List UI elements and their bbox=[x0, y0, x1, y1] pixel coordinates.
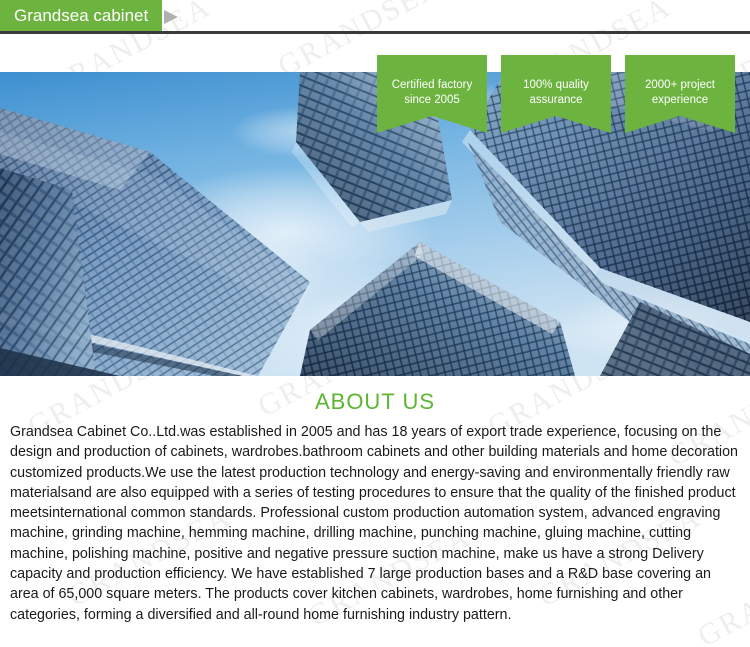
badge-line-1: 2000+ project bbox=[625, 78, 735, 93]
about-title: ABOUT US bbox=[0, 388, 750, 416]
arrow-right-icon bbox=[164, 10, 178, 24]
badge-line-2: experience bbox=[625, 93, 735, 108]
about-section: ABOUT US Grandsea Cabinet Co..Ltd.was es… bbox=[0, 380, 750, 625]
badge-certified-factory: Certified factory since 2005 bbox=[377, 55, 487, 133]
about-body-text: Grandsea Cabinet Co..Ltd.was established… bbox=[0, 422, 750, 625]
header-divider bbox=[0, 31, 750, 34]
page-header: Grandsea cabinet bbox=[0, 0, 750, 33]
hero-badge-group: Certified factory since 2005 100% qualit… bbox=[0, 55, 750, 135]
badge-line-2: assurance bbox=[501, 93, 611, 108]
brand-tab[interactable]: Grandsea cabinet bbox=[0, 0, 162, 31]
badge-line-1: Certified factory bbox=[377, 78, 487, 93]
badge-line-2: since 2005 bbox=[377, 93, 487, 108]
badge-line-1: 100% quality bbox=[501, 78, 611, 93]
badge-quality-assurance: 100% quality assurance bbox=[501, 55, 611, 133]
badge-project-experience: 2000+ project experience bbox=[625, 55, 735, 133]
